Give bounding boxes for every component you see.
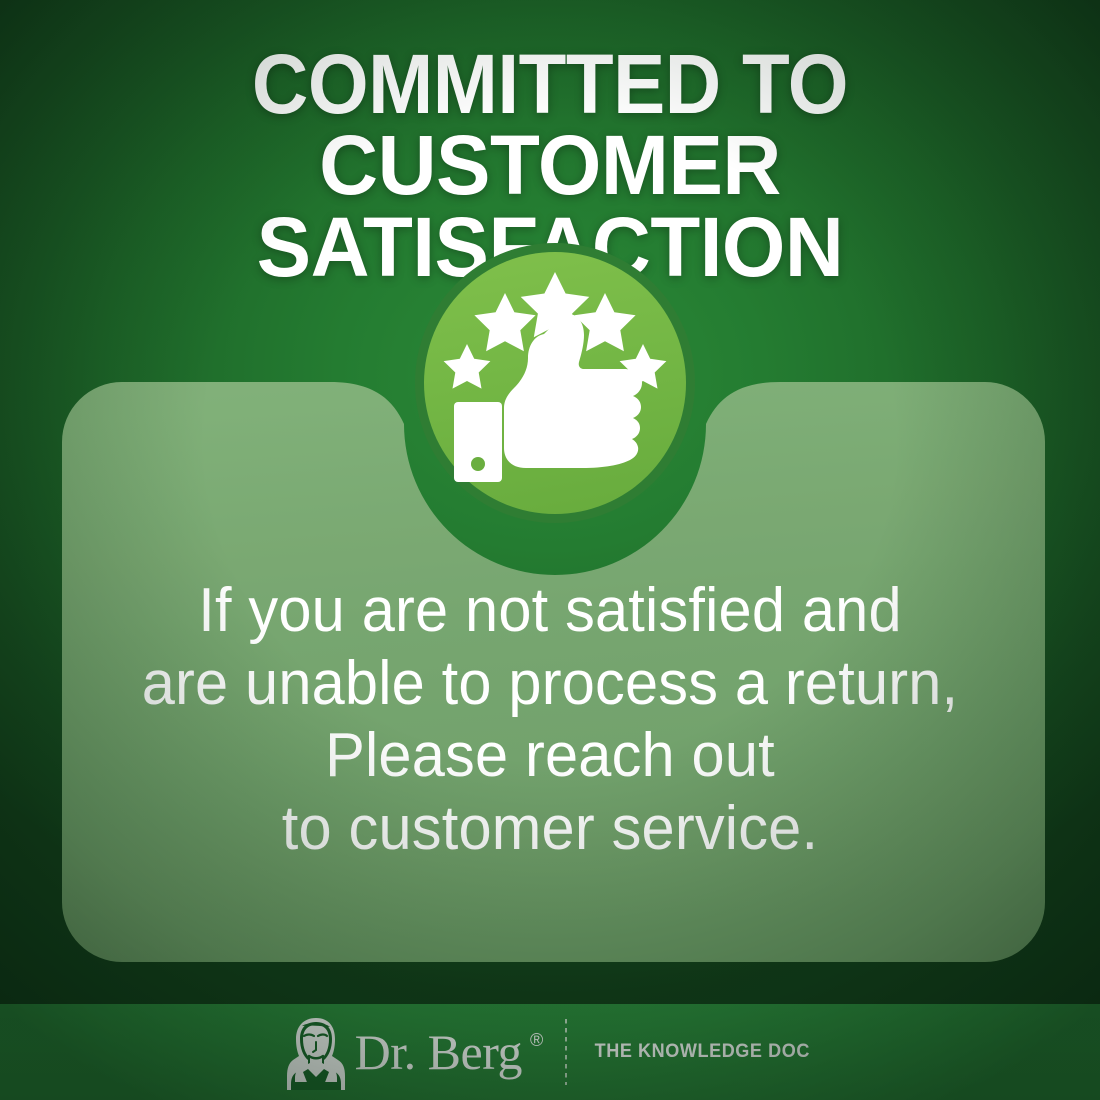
footer-bar: Dr. Berg ® THE KNOWLEDGE DOC: [0, 1004, 1100, 1100]
footer-divider: [565, 1019, 567, 1085]
satisfaction-badge: [415, 243, 695, 523]
message-panel: [0, 0, 1100, 1100]
thumbs-up-five-stars-icon: [424, 252, 686, 514]
brand-name: Dr. Berg: [355, 1027, 522, 1077]
message-line-2: are unable to process a return,: [80, 648, 1021, 721]
poster-canvas: COMMITTED TO CUSTOMER SATISFACTION: [0, 0, 1100, 1100]
message-line-4: to customer service.: [80, 793, 1021, 866]
star-icon-1: [444, 344, 491, 389]
message-panel-shape: [0, 0, 1100, 1100]
registered-trademark-icon: ®: [530, 1031, 543, 1049]
brand-logotype: Dr. Berg ®: [355, 1027, 543, 1077]
message-line-3: Please reach out: [80, 720, 1021, 793]
cuff-button-icon: [471, 457, 485, 471]
brand-tagline: THE KNOWLEDGE DOC: [594, 1041, 809, 1063]
message-text: If you are not satisfied and are unable …: [80, 575, 1021, 865]
message-line-1: If you are not satisfied and: [80, 575, 1021, 648]
dr-berg-portrait-icon: [285, 1014, 347, 1090]
